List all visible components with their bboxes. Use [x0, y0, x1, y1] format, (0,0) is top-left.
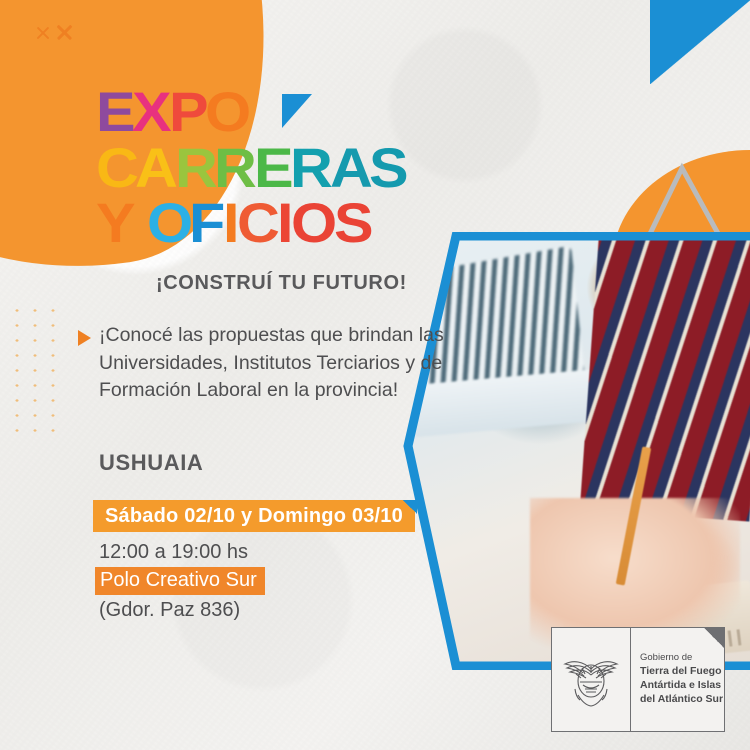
- title-letter: C: [96, 142, 138, 194]
- coat-of-arms-icon: [552, 628, 631, 731]
- title-letter: S: [334, 197, 373, 249]
- city-heading: USHUAIA: [99, 450, 203, 476]
- title-letter: I: [223, 197, 238, 249]
- title-letter: O: [291, 197, 336, 249]
- title-letter: R: [175, 142, 217, 194]
- dot-grid-pattern: [8, 303, 60, 443]
- title-letter: E: [96, 86, 135, 138]
- government-logo: Gobierno de Tierra del Fuego Antártida e…: [551, 627, 725, 732]
- title-letter: X: [132, 86, 171, 138]
- blue-triangle-title-accent-icon: [282, 94, 312, 128]
- time-text: 12:00 a 19:00 hs: [99, 541, 248, 564]
- gov-line-2: Tierra del Fuego: [640, 665, 724, 679]
- date-banner-text: Sábado 02/10 y Domingo 03/10: [105, 505, 403, 528]
- gov-line-3: Antártida e Islas: [640, 679, 724, 693]
- title-letter: A: [135, 142, 177, 194]
- tagline: ¡CONSTRUÍ TU FUTURO!: [156, 272, 407, 295]
- title-letter: R: [290, 142, 332, 194]
- title-letter: E: [254, 142, 293, 194]
- photo-plaid-shirt: [580, 210, 750, 521]
- gov-line-4: del Atlántico Sur: [640, 693, 724, 707]
- title-line-1: EXPO: [96, 86, 405, 138]
- title-line-3: Y OFICIOS: [96, 197, 405, 249]
- gov-line-1: Gobierno de: [640, 652, 724, 665]
- title-letter: [132, 197, 139, 249]
- title-letter: O: [205, 86, 250, 138]
- title-letter: Y: [96, 197, 135, 249]
- banner-fold-corner-icon: [403, 500, 417, 514]
- poster-title: EXPO CARRERAS Y OFICIOS: [96, 86, 405, 249]
- title-line-2: CARRERAS: [96, 142, 405, 194]
- title-letter: R: [214, 142, 256, 194]
- blue-triangle-top-right-shape: [650, 0, 750, 84]
- orange-bullet-arrow-icon: [78, 330, 91, 346]
- title-letter: P: [169, 86, 208, 138]
- title-letter: O: [147, 197, 192, 249]
- government-logo-text: Gobierno de Tierra del Fuego Antártida e…: [631, 628, 724, 731]
- title-letter: C: [237, 197, 279, 249]
- orange-x-icon-2: [56, 24, 72, 40]
- description-text: ¡Conocé las propuestas que brindan las U…: [99, 322, 469, 405]
- title-letter: I: [277, 197, 292, 249]
- title-letter: F: [189, 197, 224, 249]
- date-banner: Sábado 02/10 y Domingo 03/10: [93, 500, 415, 532]
- title-letter: S: [369, 142, 408, 194]
- poster-canvas: EXPO CARRERAS Y OFICIOS ¡CONSTRUÍ TU FUT…: [0, 0, 750, 750]
- venue-address: (Gdor. Paz 836): [99, 599, 240, 622]
- title-letter: A: [330, 142, 372, 194]
- venue-name: Polo Creativo Sur: [95, 567, 265, 595]
- orange-x-icon-1: [36, 26, 50, 40]
- students-photo: [400, 236, 750, 666]
